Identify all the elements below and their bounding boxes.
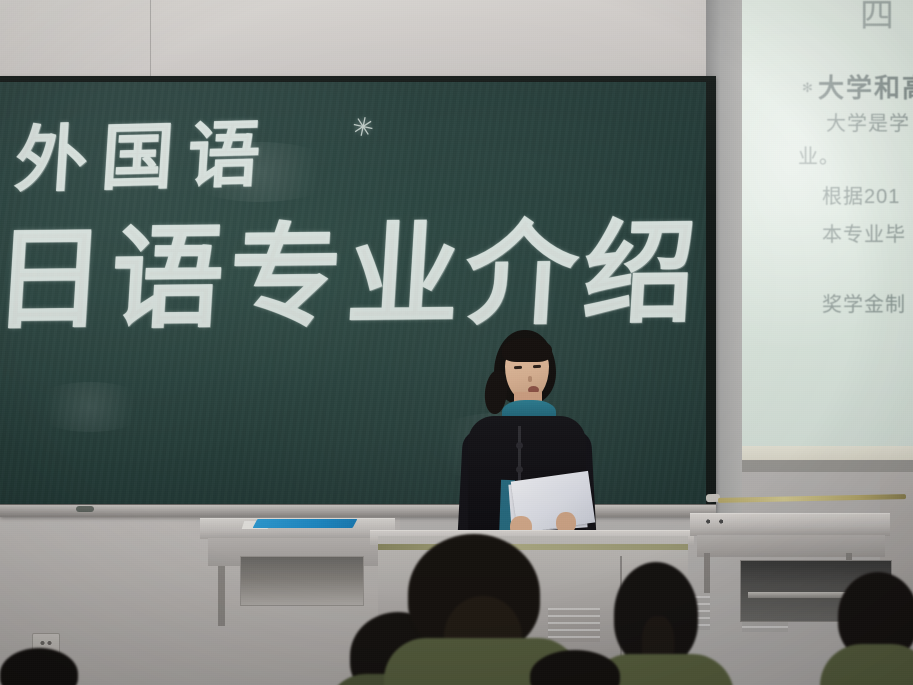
- chalk-smudge: [30, 382, 150, 432]
- presenting-teacher: [452, 330, 602, 562]
- slide-body-line-5: 奖学金制: [822, 288, 906, 317]
- teacher-jacket-button: [516, 442, 523, 449]
- chalk-ledge: [0, 504, 716, 517]
- upper-wall: [0, 0, 760, 80]
- teacher-fringe: [502, 338, 552, 362]
- teacher-jacket-button: [516, 466, 523, 473]
- slide-body-line-1: 大学是学: [826, 107, 910, 136]
- student-head-4: [820, 572, 913, 685]
- chalk-piece: [76, 506, 94, 512]
- chalk-text-line-2: 日语专业介绍: [0, 182, 707, 351]
- slide-heading: 大学和高: [818, 68, 913, 105]
- screen-bottom-band: [742, 446, 913, 460]
- classroom-photo: 外国语 日语专业介绍 ✳ 四 ✻ 大学和高 大学是学 业。 根据201 本专业毕…: [0, 0, 913, 685]
- equipment-desk-top: [690, 513, 890, 536]
- teacher-eye-right: [533, 365, 541, 369]
- slide-body-line-4: 本专业毕: [822, 218, 906, 247]
- student-head-6: [530, 648, 626, 685]
- equipment-desk-knobs: [703, 519, 729, 524]
- projection-screen-surface: 四 ✻ 大学和高 大学是学 业。 根据201 本专业毕 奖学金制: [742, 0, 913, 460]
- teacher-nose: [528, 376, 532, 382]
- slide-top-partial-char: 四: [860, 0, 894, 37]
- projection-screen-housing: 四 ✻ 大学和高 大学是学 业。 根据201 本专业毕 奖学金制: [742, 0, 913, 472]
- wooden-pointer-stick: [718, 494, 906, 503]
- slide-body-line-2: 业。: [798, 140, 840, 169]
- slide-body-line-3: 根据201: [822, 180, 900, 209]
- student-head-5: [0, 648, 86, 685]
- blue-folder: [253, 519, 358, 528]
- wall-seam-line: [150, 0, 151, 80]
- slide-bullet-icon: ✻: [802, 80, 809, 87]
- side-desk-shelf: [240, 556, 364, 606]
- teacher-eye-left: [514, 366, 522, 370]
- side-desk-leg: [218, 566, 225, 626]
- equipment-desk-apron: [697, 535, 885, 557]
